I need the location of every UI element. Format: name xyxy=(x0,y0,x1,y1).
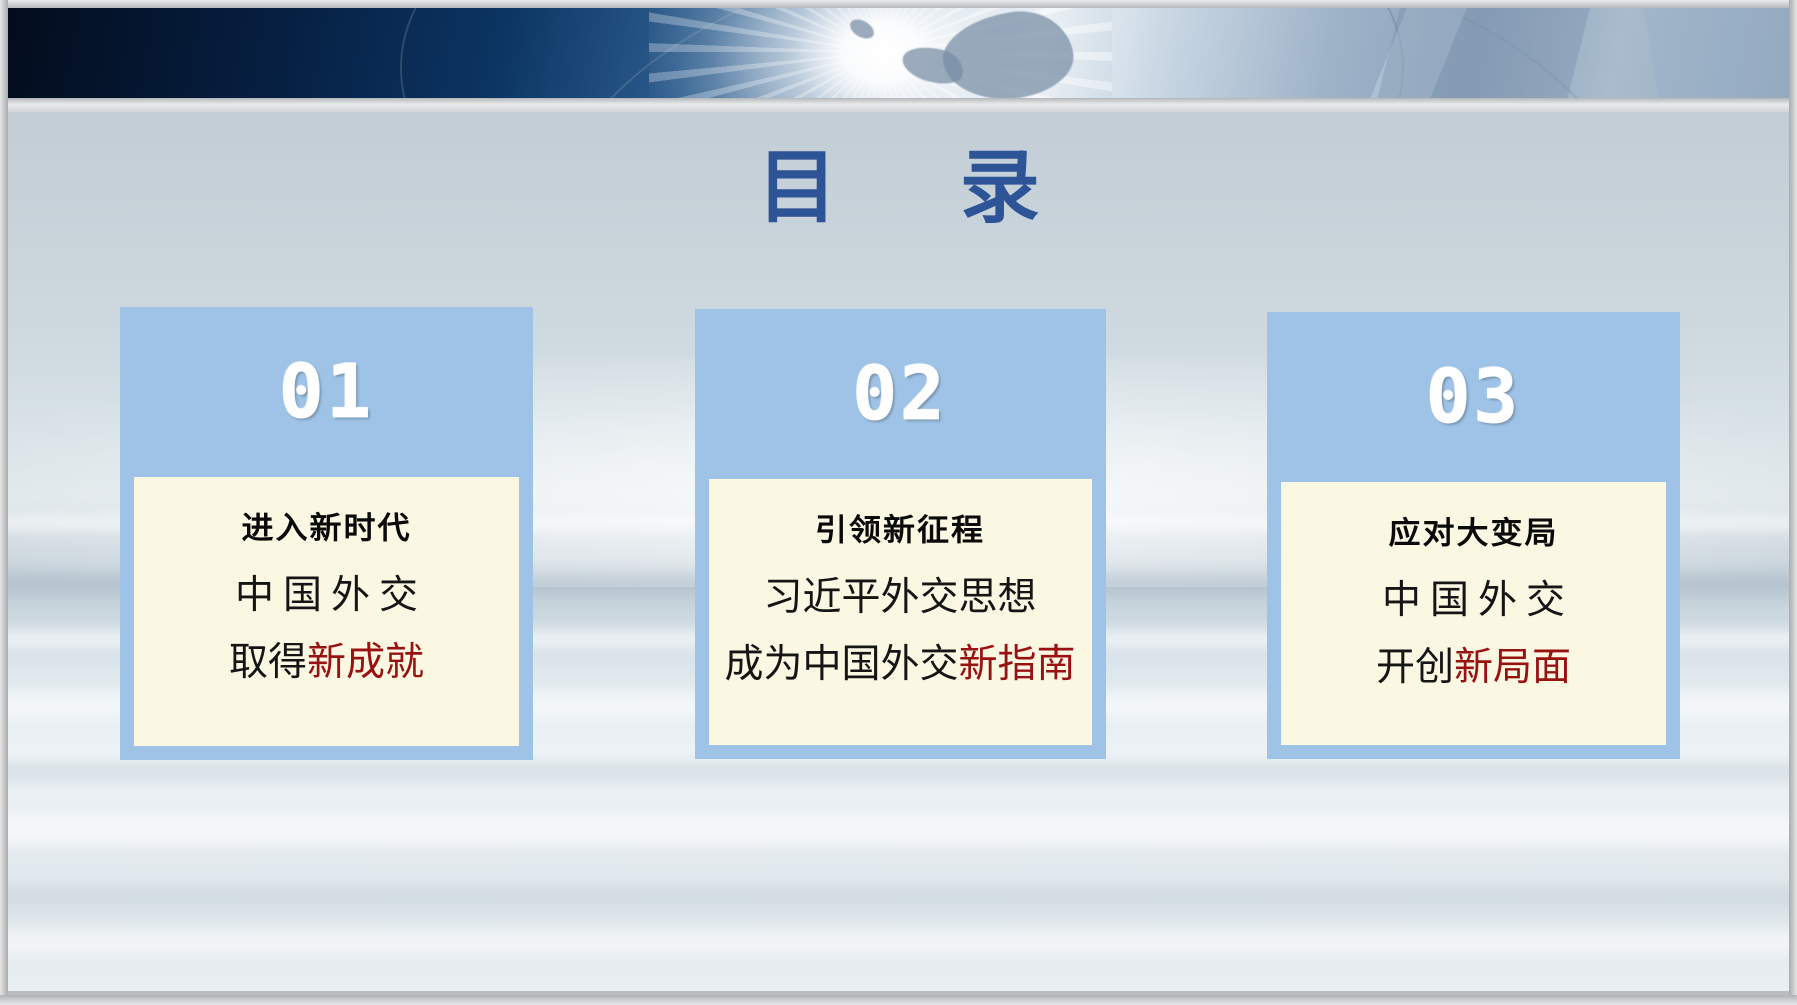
frame-edge-top xyxy=(0,0,1797,8)
card-number-02: 02 xyxy=(695,309,1106,479)
sea-background-image: 目 录 01 进入新时代 中国外交 取得新成就 02 xyxy=(8,112,1789,991)
banner-image xyxy=(8,6,1789,98)
frame-edge-right xyxy=(1789,0,1797,1005)
card-number-03: 03 xyxy=(1267,312,1680,482)
wave-streak xyxy=(8,929,1789,955)
frame-edge-bottom xyxy=(0,995,1797,1005)
agenda-card-03[interactable]: 03 应对大变局 中国外交 开创新局面 xyxy=(1267,312,1680,759)
agenda-card-row: 01 进入新时代 中国外交 取得新成就 02 引领新征程 习近平外交思想 xyxy=(120,307,1680,767)
card-line2-plain-03: 开创 xyxy=(1376,645,1454,690)
card-line1-01: 中国外交 xyxy=(226,574,427,619)
banner-blade-shape xyxy=(1378,6,1591,98)
slide-body: 目 录 01 进入新时代 中国外交 取得新成就 02 xyxy=(0,104,1797,1005)
card-heading-02: 引领新征程 xyxy=(815,514,985,548)
card-line2-plain-02: 成为中国外交 xyxy=(724,642,958,687)
card-heading-01: 进入新时代 xyxy=(241,512,411,546)
card-line2-highlight-03: 新局面 xyxy=(1454,645,1571,690)
wave-streak xyxy=(8,886,1789,908)
agenda-card-01[interactable]: 01 进入新时代 中国外交 取得新成就 xyxy=(120,307,533,760)
slide-root: 目 录 01 进入新时代 中国外交 取得新成就 02 xyxy=(0,0,1797,1005)
frame-divider xyxy=(0,98,1797,112)
top-banner xyxy=(0,0,1797,104)
card-number-01: 01 xyxy=(120,307,533,477)
card-body-01: 进入新时代 中国外交 取得新成就 xyxy=(134,477,519,746)
card-body-02: 引领新征程 习近平外交思想 成为中国外交新指南 xyxy=(709,479,1092,745)
card-line2-02: 成为中国外交新指南 xyxy=(724,643,1075,688)
banner-blade-shape xyxy=(1643,6,1779,98)
card-line2-01: 取得新成就 xyxy=(229,641,424,686)
card-line2-highlight-02: 新指南 xyxy=(959,642,1076,687)
card-line1-03: 中国外交 xyxy=(1373,579,1574,624)
card-line2-plain-01: 取得 xyxy=(229,640,307,685)
frame-edge-left xyxy=(0,0,8,1005)
page-title: 目 录 xyxy=(8,148,1789,228)
agenda-card-02[interactable]: 02 引领新征程 习近平外交思想 成为中国外交新指南 xyxy=(695,309,1106,759)
card-heading-03: 应对大变局 xyxy=(1388,517,1558,551)
card-line2-highlight-01: 新成就 xyxy=(307,640,424,685)
card-body-03: 应对大变局 中国外交 开创新局面 xyxy=(1281,482,1666,745)
card-line2-03: 开创新局面 xyxy=(1376,646,1571,691)
wave-streak xyxy=(8,815,1789,845)
card-line1-02: 习近平外交思想 xyxy=(763,576,1036,621)
